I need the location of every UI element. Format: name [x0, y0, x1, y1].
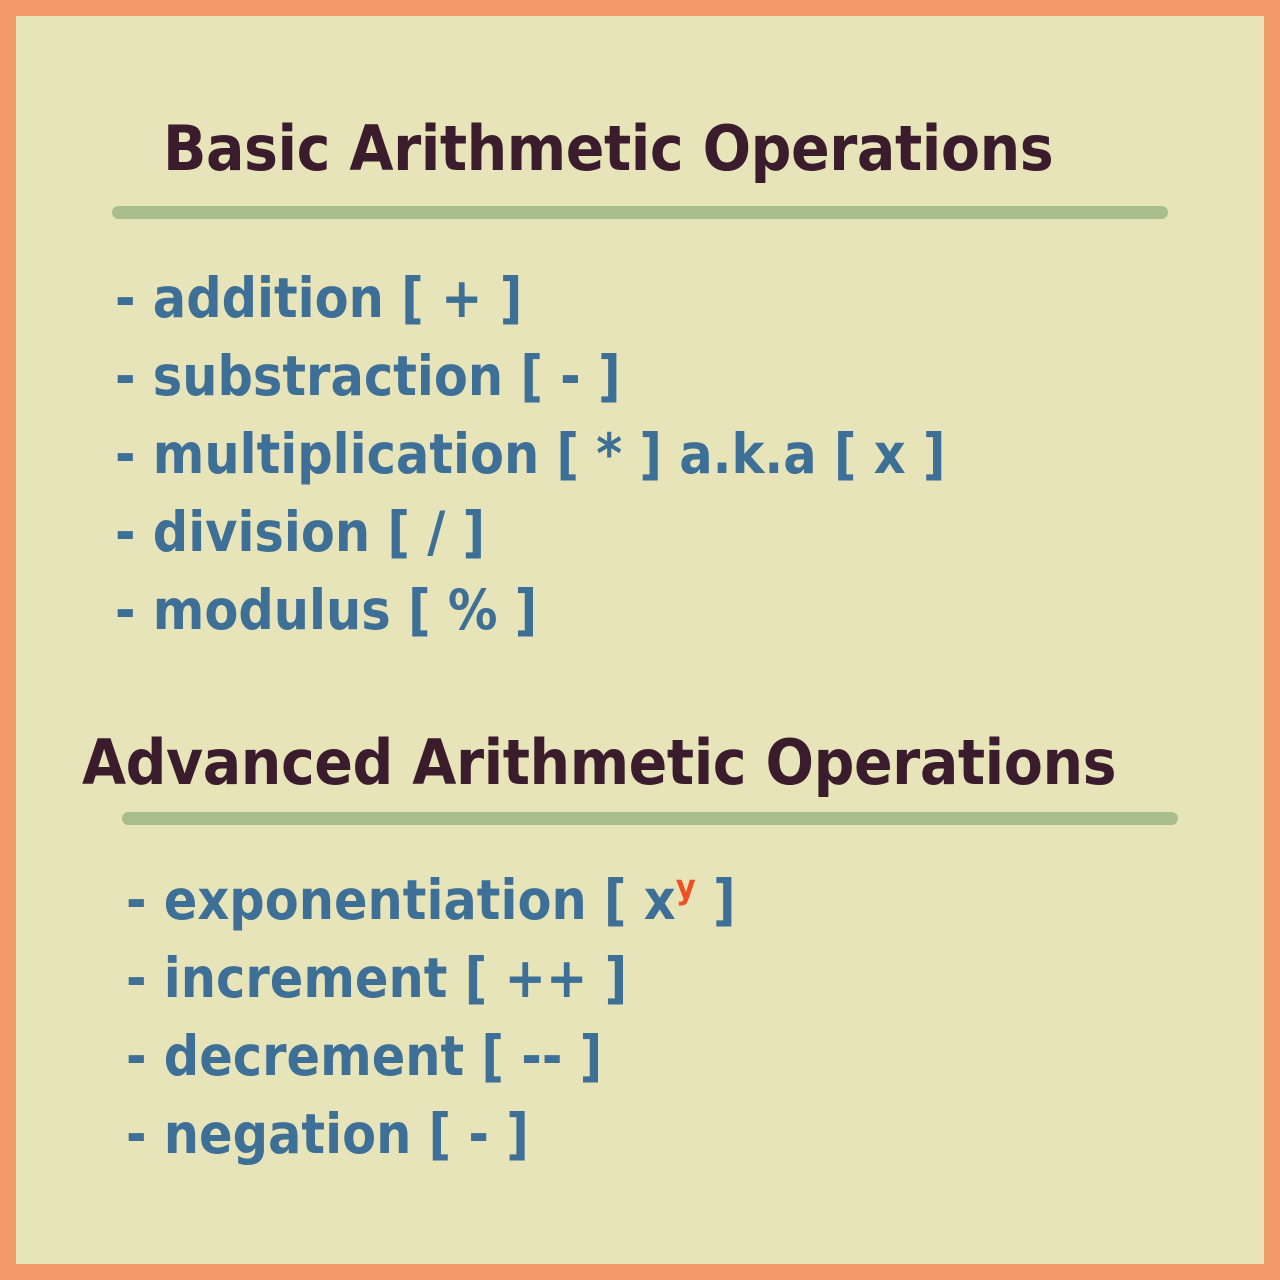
operation-symbol: [ * ] a.k.a [ x ] [556, 422, 945, 486]
list-item: - modulus [ % ] [115, 571, 945, 649]
operation-symbol: [ - ] [429, 1102, 529, 1166]
list-item: - exponentiation [ xy ] [126, 861, 736, 939]
operation-name: increment [164, 946, 448, 1010]
divider-advanced [122, 812, 1178, 825]
bullet-dash: - [126, 1024, 147, 1088]
list-item: - substraction [ - ] [115, 337, 945, 415]
operation-name: modulus [153, 578, 391, 642]
list-item: - multiplication [ * ] a.k.a [ x ] [115, 415, 945, 493]
operations-list-basic: - addition [ + ] - substraction [ - ] - … [115, 259, 1038, 649]
list-item: - decrement [ -- ] [126, 1017, 736, 1095]
list-item: - addition [ + ] [115, 259, 945, 337]
operation-symbol: [ % ] [408, 578, 537, 642]
slide-canvas: Basic Arithmetic Operations - addition [… [16, 16, 1264, 1264]
page-title-advanced: Advanced Arithmetic Operations [82, 732, 1116, 794]
operation-name: exponentiation [164, 868, 587, 932]
operation-name: multiplication [153, 422, 539, 486]
operation-symbol-suffix: ] [696, 868, 736, 932]
bullet-dash: - [115, 266, 136, 330]
operations-list-advanced: - exponentiation [ xy ] - increment [ ++… [126, 861, 803, 1173]
list-item: - division [ / ] [115, 493, 945, 571]
list-item: - increment [ ++ ] [126, 939, 736, 1017]
operation-symbol: [ + ] [401, 266, 522, 330]
list-item: - negation [ - ] [126, 1095, 736, 1173]
exponent-superscript: y [676, 867, 696, 907]
operation-name: decrement [164, 1024, 464, 1088]
bullet-dash: - [126, 946, 147, 1010]
page-title-basic: Basic Arithmetic Operations [163, 118, 1053, 180]
divider-basic [112, 206, 1168, 219]
bullet-dash: - [115, 500, 136, 564]
operation-symbol: [ ++ ] [465, 946, 628, 1010]
operation-name: substraction [153, 344, 503, 408]
operation-name: division [153, 500, 370, 564]
operation-name: negation [164, 1102, 412, 1166]
slide-frame: Basic Arithmetic Operations - addition [… [0, 0, 1280, 1280]
bullet-dash: - [126, 1102, 147, 1166]
operation-symbol: [ / ] [387, 500, 485, 564]
operation-name: addition [153, 266, 384, 330]
bullet-dash: - [115, 344, 136, 408]
operation-symbol: [ -- ] [481, 1024, 602, 1088]
operation-symbol-prefix: [ x [604, 868, 676, 932]
bullet-dash: - [115, 422, 136, 486]
bullet-dash: - [126, 868, 147, 932]
bullet-dash: - [115, 578, 136, 642]
operation-symbol: [ - ] [520, 344, 620, 408]
